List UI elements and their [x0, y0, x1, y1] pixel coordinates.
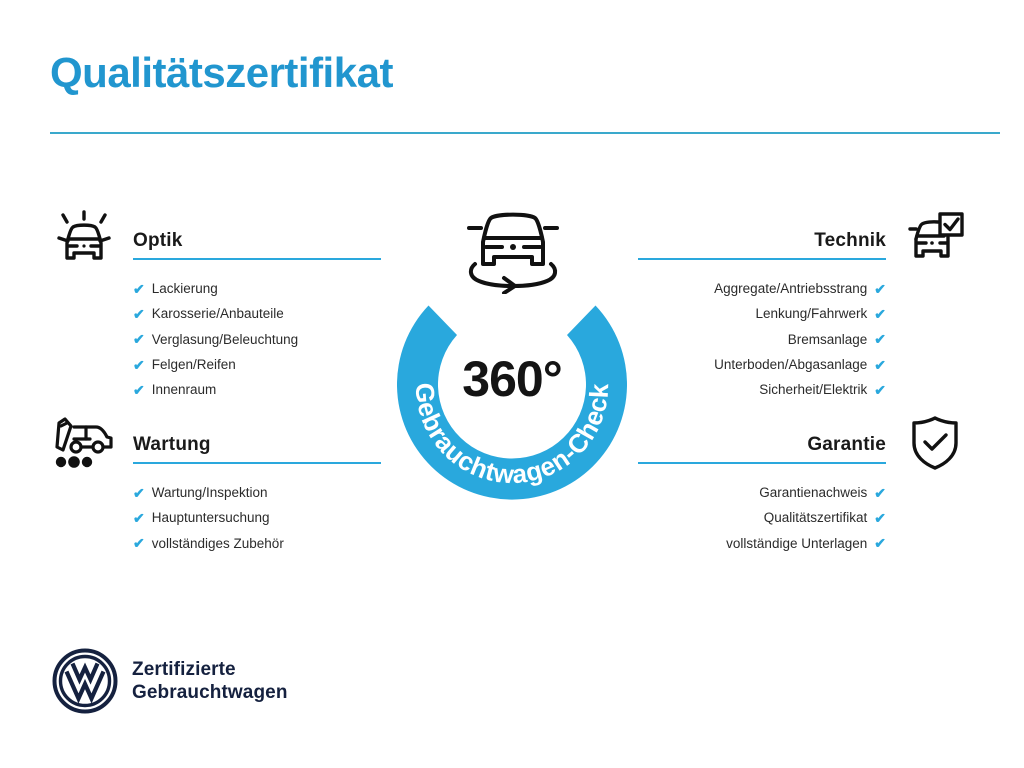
section-technik-header: Technik: [634, 208, 974, 260]
section-wartung-title: Wartung: [133, 434, 211, 456]
list-item-label: Garantienachweis: [759, 486, 867, 500]
volkswagen-logo: [52, 648, 118, 714]
list-item: Garantienachweis✔: [634, 480, 886, 505]
section-wartung-header: Wartung: [45, 412, 385, 464]
list-item: ✔Wartung/Inspektion: [133, 480, 385, 505]
section-wartung-divider: [133, 462, 381, 464]
check-icon: ✔: [133, 511, 145, 525]
list-item-label: Unterboden/Abgasanlage: [714, 358, 867, 372]
list-item: Qualitätszertifikat✔: [634, 505, 886, 530]
list-item: ✔vollständiges Zubehör: [133, 531, 385, 556]
car-headlights-icon: [45, 208, 123, 270]
list-item-label: Lackierung: [152, 282, 218, 296]
section-technik-list: Aggregate/Antriebsstrang✔ Lenkung/Fahrwe…: [634, 276, 974, 403]
list-item-label: Qualitätszertifikat: [764, 511, 868, 525]
list-item: ✔Lackierung: [133, 276, 385, 301]
section-optik-title: Optik: [133, 230, 183, 252]
section-technik: Technik Aggregate/Antriebsstrang✔ Lenkun…: [634, 208, 974, 403]
shield-check-icon: [896, 412, 974, 474]
section-garantie: Garantie Garantienachweis✔ Qualitätszert…: [634, 412, 974, 556]
list-item: Sicherheit/Elektrik✔: [634, 378, 886, 403]
list-item: vollständige Unterlagen✔: [634, 531, 886, 556]
title-divider: [50, 132, 1000, 134]
list-item: Bremsanlage✔: [634, 327, 886, 352]
check-icon: ✔: [133, 358, 145, 372]
section-garantie-divider: [638, 462, 886, 464]
list-item-label: Sicherheit/Elektrik: [759, 383, 867, 397]
section-garantie-header: Garantie: [634, 412, 974, 464]
footer-logo-block: Zertifizierte Gebrauchtwagen: [52, 648, 288, 714]
section-optik-list: ✔Lackierung ✔Karosserie/Anbauteile ✔Verg…: [45, 276, 385, 403]
list-item-label: vollständiges Zubehör: [152, 537, 284, 551]
car-rotation-360-icon: [459, 202, 567, 294]
list-item-label: Verglasung/Beleuchtung: [152, 333, 298, 347]
check-icon: ✔: [874, 282, 886, 296]
section-optik-divider: [133, 258, 381, 260]
list-item: ✔Innenraum: [133, 378, 385, 403]
list-item: ✔Felgen/Reifen: [133, 352, 385, 377]
badge-degrees-label: 360°: [383, 350, 641, 408]
list-item: ✔Hauptuntersuchung: [133, 505, 385, 530]
check-icon: ✔: [133, 383, 145, 397]
check-icon: ✔: [133, 282, 145, 296]
list-item: Aggregate/Antriebsstrang✔: [634, 276, 886, 301]
list-item-label: Bremsanlage: [788, 333, 868, 347]
list-item: Lenkung/Fahrwerk✔: [634, 301, 886, 326]
check-icon: ✔: [133, 332, 145, 346]
section-technik-divider: [638, 258, 886, 260]
list-item-label: Karosserie/Anbauteile: [152, 307, 284, 321]
wrench-car-service-icon: [45, 412, 123, 474]
check-icon: ✔: [874, 383, 886, 397]
check-icon: ✔: [133, 486, 145, 500]
section-optik-header: Optik: [45, 208, 385, 260]
check-icon: ✔: [133, 536, 145, 550]
page-title: Qualitätszertifikat: [50, 52, 1000, 94]
section-optik: Optik ✔Lackierung ✔Karosserie/Anbauteile…: [45, 208, 385, 403]
check-icon: ✔: [874, 511, 886, 525]
check-icon: ✔: [874, 358, 886, 372]
list-item-label: vollständige Unterlagen: [726, 537, 867, 551]
footer-logo-line2: Gebrauchtwagen: [132, 681, 288, 704]
list-item: ✔Verglasung/Beleuchtung: [133, 327, 385, 352]
list-item-label: Aggregate/Antriebsstrang: [714, 282, 867, 296]
check-icon: ✔: [874, 486, 886, 500]
check-icon: ✔: [874, 332, 886, 346]
list-item: ✔Karosserie/Anbauteile: [133, 301, 385, 326]
list-item: Unterboden/Abgasanlage✔: [634, 352, 886, 377]
section-garantie-title: Garantie: [807, 434, 886, 456]
check-icon: ✔: [133, 307, 145, 321]
header: Qualitätszertifikat: [50, 52, 1000, 94]
list-item-label: Felgen/Reifen: [152, 358, 236, 372]
footer-logo-line1: Zertifizierte: [132, 658, 288, 681]
list-item-label: Wartung/Inspektion: [152, 486, 268, 500]
list-item-label: Hauptuntersuchung: [152, 511, 270, 525]
footer-logo-text: Zertifizierte Gebrauchtwagen: [132, 658, 288, 704]
section-wartung: Wartung ✔Wartung/Inspektion ✔Hauptunters…: [45, 412, 385, 556]
list-item-label: Lenkung/Fahrwerk: [755, 307, 867, 321]
check-icon: ✔: [874, 536, 886, 550]
car-checkbox-icon: [896, 208, 974, 270]
list-item-label: Innenraum: [152, 383, 217, 397]
badge-360-gebrauchtwagen-check: Gebrauchtwagen-Check 360°: [383, 258, 641, 516]
section-garantie-list: Garantienachweis✔ Qualitätszertifikat✔ v…: [634, 480, 974, 556]
section-wartung-list: ✔Wartung/Inspektion ✔Hauptuntersuchung ✔…: [45, 480, 385, 556]
section-technik-title: Technik: [814, 230, 886, 252]
check-icon: ✔: [874, 307, 886, 321]
